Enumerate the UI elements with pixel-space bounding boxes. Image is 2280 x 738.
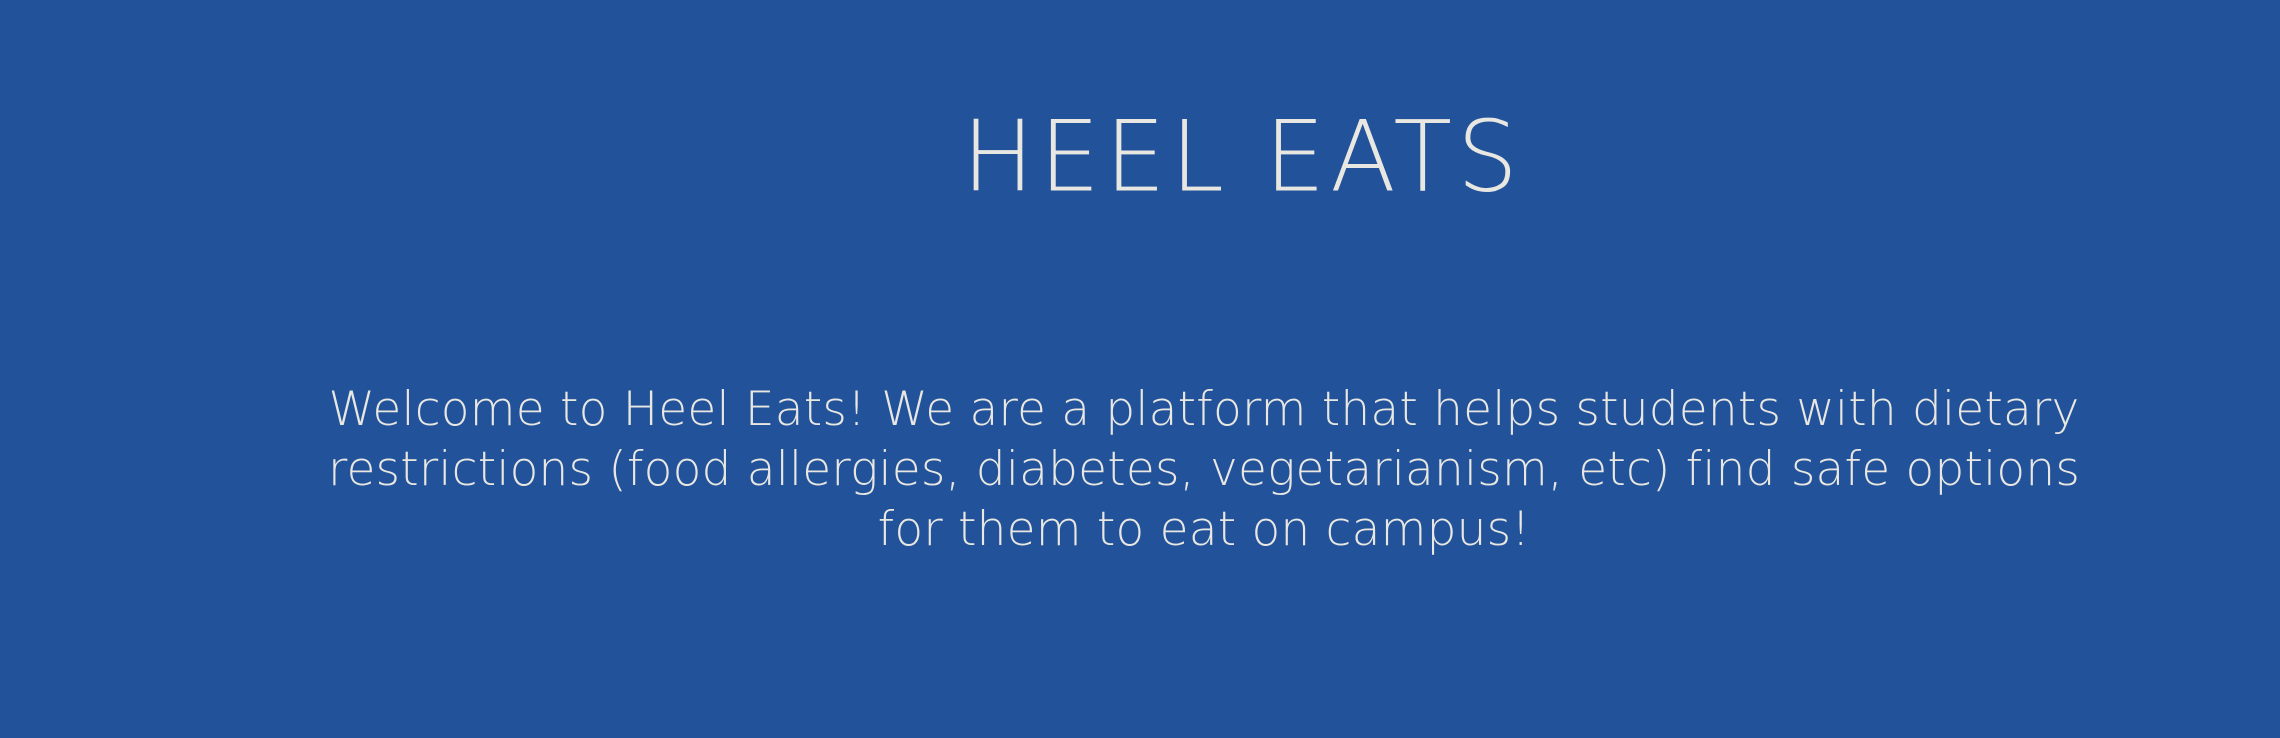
intro-paragraph: Welcome to Heel Eats! We are a platform … — [196, 380, 2084, 560]
hero-banner: HEEL EATS Welcome to Heel Eats! We are a… — [0, 0, 2280, 738]
page-title: HEEL EATS — [757, 104, 1523, 210]
site-title-container: HEEL EATS — [0, 104, 2280, 208]
intro-container: Welcome to Heel Eats! We are a platform … — [0, 380, 2280, 560]
